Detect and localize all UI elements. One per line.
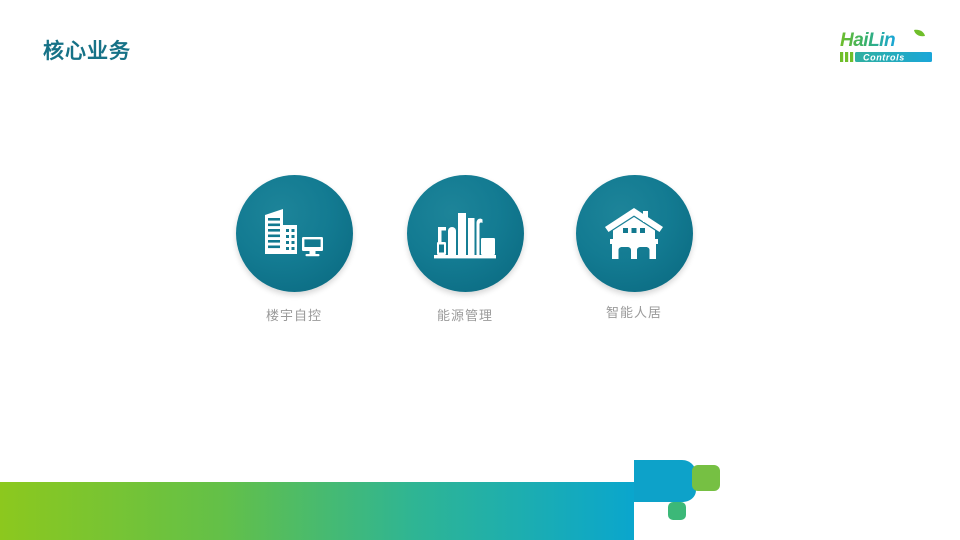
bottom-decoration (0, 460, 960, 540)
icon-circle[interactable] (236, 175, 353, 292)
business-card-building-automation[interactable]: 楼宇自控 (229, 175, 359, 324)
core-business-list: 楼宇自控 (0, 175, 960, 350)
page-title: 核心业务 (43, 41, 131, 62)
building-monitor-icon (263, 204, 325, 264)
svg-text:HaiLin: HaiLin (840, 30, 895, 51)
business-card-label: 楼宇自控 (229, 308, 359, 324)
factory-plant-icon (434, 205, 496, 263)
business-card-label: 能源管理 (400, 308, 530, 324)
house-icon (604, 206, 664, 262)
business-card-label: 智能人居 (569, 305, 699, 321)
icon-circle[interactable] (407, 175, 524, 292)
business-card-smart-living[interactable]: 智能人居 (569, 175, 699, 321)
brand-logo: HaiLin Controls (838, 28, 934, 68)
slide-root: 核心业务 HaiLin (0, 0, 960, 540)
svg-text:Controls: Controls (863, 52, 905, 62)
business-card-energy-management[interactable]: 能源管理 (400, 175, 530, 324)
icon-circle[interactable] (576, 175, 693, 292)
